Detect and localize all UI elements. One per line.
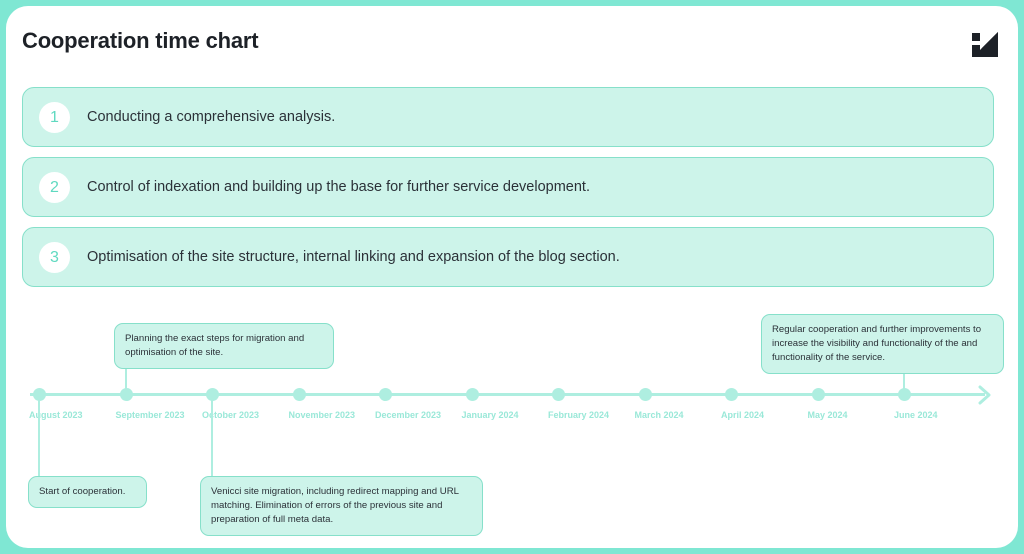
timeline-event-note: Planning the exact steps for migration a…: [114, 323, 334, 369]
timeline-chart: August 2023September 2023October 2023Nov…: [6, 296, 1018, 548]
timeline-tick-dot: [293, 388, 306, 401]
timeline-axis-line: [30, 393, 985, 396]
timeline-tick-dot: [812, 388, 825, 401]
step-row: 2 Control of indexation and building up …: [22, 157, 994, 217]
timeline-tick-dot: [466, 388, 479, 401]
step-text: Optimisation of the site structure, inte…: [87, 228, 620, 286]
timeline-tick-label: January 2024: [462, 410, 519, 420]
timeline-event-connector: [38, 394, 40, 476]
timeline-event-connector: [125, 367, 127, 394]
card-header: Cooperation time chart: [6, 6, 1018, 68]
timeline-tick-label: June 2024: [894, 410, 938, 420]
timeline-tick-dot: [552, 388, 565, 401]
step-number-badge: 1: [39, 102, 70, 133]
timeline-arrow-icon: [978, 385, 998, 405]
step-number-badge: 3: [39, 242, 70, 273]
timeline-tick-label: May 2024: [808, 410, 848, 420]
timeline-tick-label: March 2024: [635, 410, 684, 420]
step-text: Control of indexation and building up th…: [87, 158, 590, 216]
timeline-tick-label: September 2023: [116, 410, 185, 420]
step-text: Conducting a comprehensive analysis.: [87, 88, 335, 146]
timeline-event-note: Start of cooperation.: [28, 476, 147, 508]
timeline-tick-dot: [639, 388, 652, 401]
timeline-event-note: Regular cooperation and further improvem…: [761, 314, 1004, 374]
timeline-tick-dot: [725, 388, 738, 401]
timeline-tick-label: February 2024: [548, 410, 609, 420]
checkmark-leaf-logo-icon: [972, 32, 1000, 58]
timeline-tick-dot: [379, 388, 392, 401]
timeline-event-note: Venicci site migration, including redire…: [200, 476, 483, 536]
timeline-tick-label: December 2023: [375, 410, 441, 420]
timeline-event-connector: [211, 394, 213, 476]
step-row: 3 Optimisation of the site structure, in…: [22, 227, 994, 287]
timeline-tick-label: April 2024: [721, 410, 764, 420]
step-row: 1 Conducting a comprehensive analysis.: [22, 87, 994, 147]
step-number-badge: 2: [39, 172, 70, 203]
timeline-tick-label: November 2023: [289, 410, 356, 420]
page-title: Cooperation time chart: [22, 28, 258, 54]
cooperation-time-chart-card: Cooperation time chart 1 Conducting a co…: [6, 6, 1018, 548]
